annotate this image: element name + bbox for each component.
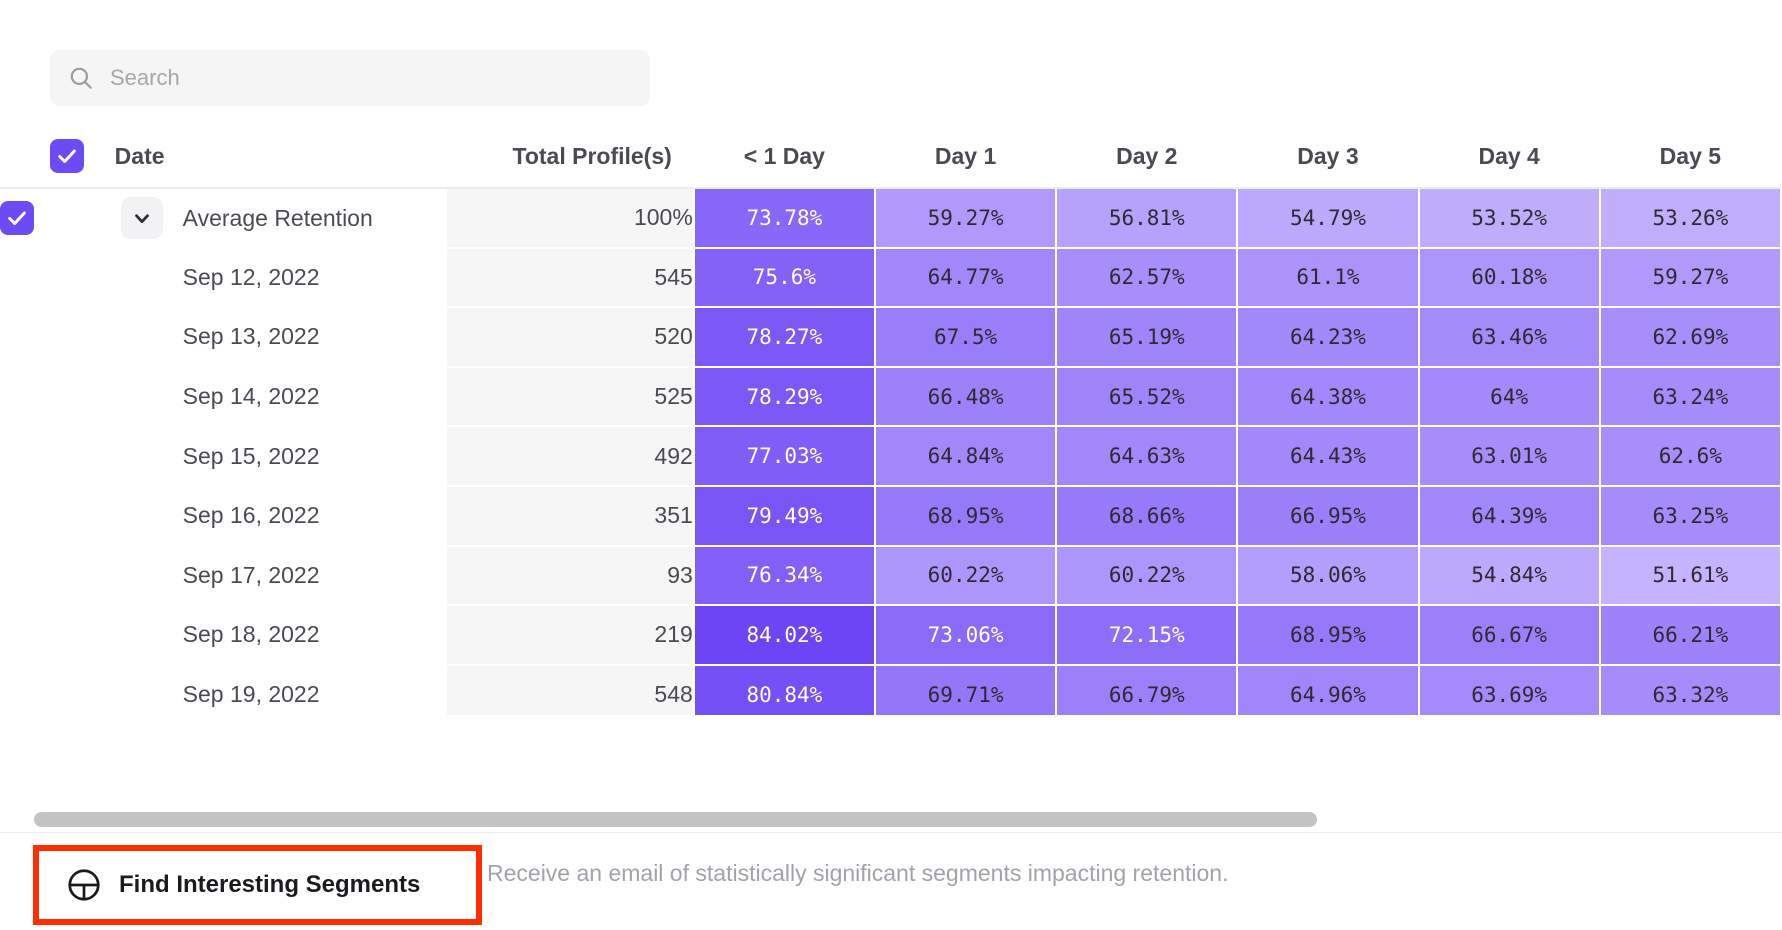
retention-cell[interactable]: 54.79% (1237, 188, 1418, 248)
retention-table-panel: DateTotal Profile(s)< 1 DayDay 1Day 2Day… (0, 0, 1782, 930)
row-checkbox-cell (0, 665, 115, 715)
column-header-day-3[interactable]: Day 3 (1237, 125, 1418, 188)
column-header-day-4[interactable]: Day 4 (1419, 125, 1600, 188)
retention-cell[interactable]: 64.96% (1237, 665, 1418, 715)
retention-cell[interactable]: 76.34% (694, 546, 875, 606)
table-row[interactable]: Sep 13, 202252078.27%67.5%65.19%64.23%63… (0, 307, 1781, 367)
retention-cell[interactable]: 63.01% (1419, 426, 1600, 486)
row-checkbox-cell (0, 248, 115, 308)
find-interesting-segments-highlight: Find Interesting Segments (33, 845, 482, 925)
retention-cell[interactable]: 59.27% (1600, 248, 1781, 308)
row-total-profiles: 520 (447, 307, 694, 367)
row-label-cell: Sep 13, 2022 (115, 307, 448, 367)
search-input[interactable] (110, 65, 632, 91)
row-total-profiles: 351 (447, 486, 694, 546)
table-row[interactable]: Sep 12, 202254575.6%64.77%62.57%61.1%60.… (0, 248, 1781, 308)
row-label-cell: Sep 18, 2022 (115, 605, 448, 665)
row-label-cell: Sep 14, 2022 (115, 367, 448, 427)
retention-cell[interactable]: 54.84% (1419, 546, 1600, 606)
table-header: DateTotal Profile(s)< 1 DayDay 1Day 2Day… (0, 125, 1781, 188)
retention-table: DateTotal Profile(s)< 1 DayDay 1Day 2Day… (0, 125, 1782, 715)
row-label-cell: Sep 12, 2022 (115, 248, 448, 308)
column-header-day-1[interactable]: Day 1 (875, 125, 1056, 188)
row-total-profiles: 492 (447, 426, 694, 486)
column-header-day-0[interactable]: < 1 Day (694, 125, 875, 188)
retention-cell[interactable]: 62.6% (1600, 426, 1781, 486)
row-checkbox-cell (0, 367, 115, 427)
find-interesting-segments-button[interactable]: Find Interesting Segments (39, 851, 420, 919)
row-label: Sep 17, 2022 (183, 562, 320, 589)
table-body: Average Retention100%73.78%59.27%56.81%5… (0, 188, 1781, 715)
retention-cell[interactable]: 78.29% (694, 367, 875, 427)
table-row[interactable]: Sep 14, 202252578.29%66.48%65.52%64.38%6… (0, 367, 1781, 427)
row-label-cell: Average Retention (115, 188, 448, 248)
retention-cell[interactable]: 73.06% (875, 605, 1056, 665)
table-row[interactable]: Sep 18, 202221984.02%73.06%72.15%68.95%6… (0, 605, 1781, 665)
row-total-profiles: 219 (447, 605, 694, 665)
retention-cell[interactable]: 64.39% (1419, 486, 1600, 546)
horizontal-scrollbar-thumb[interactable] (34, 812, 1317, 827)
retention-cell[interactable]: 65.52% (1056, 367, 1237, 427)
retention-cell[interactable]: 64.77% (875, 248, 1056, 308)
table-row[interactable]: Sep 19, 202254880.84%69.71%66.79%64.96%6… (0, 665, 1781, 715)
retention-cell[interactable]: 64.84% (875, 426, 1056, 486)
select-all-checkbox-cell (0, 125, 115, 188)
retention-cell[interactable]: 63.32% (1600, 665, 1781, 715)
row-label: Sep 16, 2022 (183, 502, 320, 529)
retention-cell[interactable]: 64.38% (1237, 367, 1418, 427)
retention-cell[interactable]: 58.06% (1237, 546, 1418, 606)
row-total-profiles: 93 (447, 546, 694, 606)
retention-cell[interactable]: 66.95% (1237, 486, 1418, 546)
retention-cell[interactable]: 53.52% (1419, 188, 1600, 248)
row-total-profiles: 525 (447, 367, 694, 427)
column-header-day-5[interactable]: Day 5 (1600, 125, 1781, 188)
retention-cell[interactable]: 73.78% (694, 188, 875, 248)
retention-cell[interactable]: 80.84% (694, 665, 875, 715)
retention-cell[interactable]: 75.6% (694, 248, 875, 308)
retention-cell[interactable]: 72.15% (1056, 605, 1237, 665)
retention-cell[interactable]: 51.61% (1600, 546, 1781, 606)
retention-cell[interactable]: 79.49% (694, 486, 875, 546)
row-checkbox-cell (0, 426, 115, 486)
retention-cell[interactable]: 64.23% (1237, 307, 1418, 367)
column-header-date[interactable]: Date (115, 125, 448, 188)
row-label: Sep 14, 2022 (183, 383, 320, 410)
column-header-total-profiles[interactable]: Total Profile(s) (447, 125, 694, 188)
retention-cell[interactable]: 67.5% (875, 307, 1056, 367)
chevron-down-icon[interactable] (121, 197, 163, 239)
retention-cell[interactable]: 66.79% (1056, 665, 1237, 715)
row-label-cell: Sep 19, 2022 (115, 665, 448, 715)
table-row[interactable]: Average Retention100%73.78%59.27%56.81%5… (0, 188, 1781, 248)
row-label-cell: Sep 15, 2022 (115, 426, 448, 486)
row-label: Sep 19, 2022 (183, 681, 320, 708)
table-row[interactable]: Sep 17, 20229376.34%60.22%60.22%58.06%54… (0, 546, 1781, 606)
row-checkbox-cell (0, 486, 115, 546)
segment-icon (65, 866, 103, 904)
retention-cell[interactable]: 63.24% (1600, 367, 1781, 427)
retention-cell[interactable]: 59.27% (875, 188, 1056, 248)
retention-cell[interactable]: 62.57% (1056, 248, 1237, 308)
footer-note: Receive an email of statistically signif… (487, 860, 1228, 887)
table-row[interactable]: Sep 16, 202235179.49%68.95%68.66%66.95%6… (0, 486, 1781, 546)
retention-cell[interactable]: 63.46% (1419, 307, 1600, 367)
retention-cell[interactable]: 77.03% (694, 426, 875, 486)
retention-cell[interactable]: 60.18% (1419, 248, 1600, 308)
retention-cell[interactable]: 84.02% (694, 605, 875, 665)
row-label-cell: Sep 17, 2022 (115, 546, 448, 606)
row-label: Average Retention (183, 205, 373, 232)
retention-cell[interactable]: 66.21% (1600, 605, 1781, 665)
retention-cell[interactable]: 65.19% (1056, 307, 1237, 367)
retention-cell[interactable]: 64.63% (1056, 426, 1237, 486)
row-label: Sep 13, 2022 (183, 323, 320, 350)
select-all-checkbox[interactable] (50, 139, 84, 173)
row-label: Sep 12, 2022 (183, 264, 320, 291)
retention-cell[interactable]: 63.69% (1419, 665, 1600, 715)
row-label: Sep 15, 2022 (183, 443, 320, 470)
retention-cell[interactable]: 66.48% (875, 367, 1056, 427)
retention-cell[interactable]: 64.43% (1237, 426, 1418, 486)
search-icon (68, 65, 94, 91)
retention-cell[interactable]: 69.71% (875, 665, 1056, 715)
retention-cell[interactable]: 62.69% (1600, 307, 1781, 367)
retention-cell[interactable]: 68.95% (1237, 605, 1418, 665)
row-label-cell: Sep 16, 2022 (115, 486, 448, 546)
retention-cell[interactable]: 60.22% (1056, 546, 1237, 606)
retention-cell[interactable]: 56.81% (1056, 188, 1237, 248)
row-checkbox-cell (0, 307, 115, 367)
retention-cell[interactable]: 64% (1419, 367, 1600, 427)
search-bar[interactable] (50, 50, 650, 106)
retention-cell[interactable]: 66.67% (1419, 605, 1600, 665)
row-total-profiles: 545 (447, 248, 694, 308)
retention-cell[interactable]: 68.66% (1056, 486, 1237, 546)
row-checkbox-cell (0, 188, 115, 248)
row-checkbox[interactable] (0, 201, 34, 235)
retention-cell[interactable]: 61.1% (1237, 248, 1418, 308)
find-interesting-segments-label: Find Interesting Segments (119, 871, 420, 899)
retention-cell[interactable]: 53.26% (1600, 188, 1781, 248)
column-header-day-2[interactable]: Day 2 (1056, 125, 1237, 188)
retention-cell[interactable]: 60.22% (875, 546, 1056, 606)
retention-cell[interactable]: 63.25% (1600, 486, 1781, 546)
row-label: Sep 18, 2022 (183, 621, 320, 648)
row-checkbox-cell (0, 546, 115, 606)
row-total-profiles: 548 (447, 665, 694, 715)
retention-cell[interactable]: 78.27% (694, 307, 875, 367)
table-row[interactable]: Sep 15, 202249277.03%64.84%64.63%64.43%6… (0, 426, 1781, 486)
retention-table-scroll[interactable]: DateTotal Profile(s)< 1 DayDay 1Day 2Day… (0, 125, 1782, 715)
row-checkbox-cell (0, 605, 115, 665)
row-total-profiles: 100% (447, 188, 694, 248)
retention-cell[interactable]: 68.95% (875, 486, 1056, 546)
